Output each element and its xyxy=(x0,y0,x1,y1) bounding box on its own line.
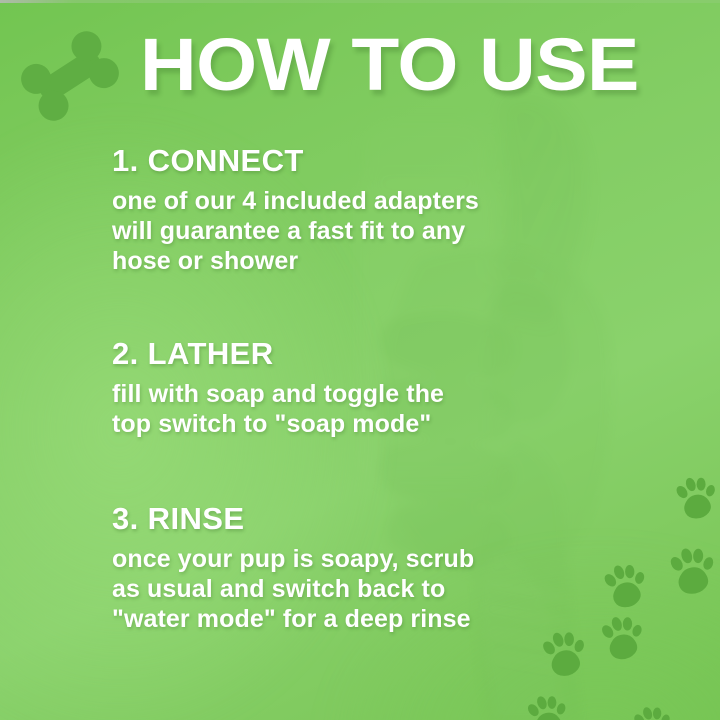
paw-print-icon xyxy=(669,470,720,526)
page-title: HOW TO USE xyxy=(140,27,639,103)
paw-print-icon xyxy=(595,609,649,666)
paw-print-icon xyxy=(663,541,720,602)
how-to-use-poster: HOW TO USE 1. CONNECT one of our 4 inclu… xyxy=(0,0,720,720)
step-1-connect: 1. CONNECT one of our 4 included adapter… xyxy=(112,143,582,276)
step-2-heading: 2. LATHER xyxy=(112,336,582,372)
step-3-rinse: 3. RINSE once your pup is soapy, scrub a… xyxy=(112,501,582,634)
bone-icon xyxy=(16,22,124,130)
step-2-body: fill with soap and toggle the top switch… xyxy=(112,379,582,439)
step-1-body: one of our 4 included adapters will guar… xyxy=(112,186,582,276)
steps-list: 1. CONNECT one of our 4 included adapter… xyxy=(112,143,582,634)
top-edge-strip xyxy=(0,0,720,3)
step-2-lather: 2. LATHER fill with soap and toggle the … xyxy=(112,336,582,439)
step-3-heading: 3. RINSE xyxy=(112,501,582,537)
step-1-heading: 1. CONNECT xyxy=(112,143,582,179)
step-3-body: once your pup is soapy, scrub as usual a… xyxy=(112,544,582,634)
